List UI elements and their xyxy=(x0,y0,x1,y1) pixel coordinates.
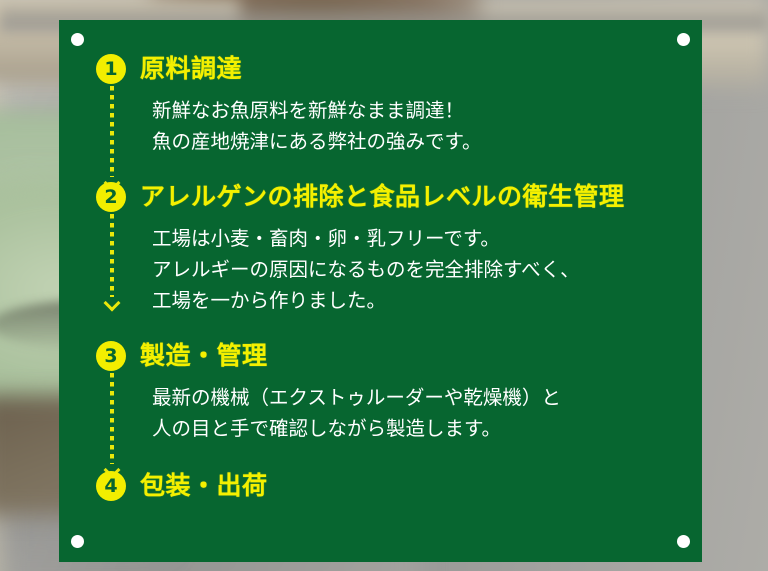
step-heading-3: 製造・管理 xyxy=(140,341,268,371)
step-body-line: 魚の産地焼津にある弊社の強みです。 xyxy=(152,126,688,157)
step-body-2: 工場は小麦・畜肉・卵・乳フリーです。 アレルギーの原因になるものを完全排除すべく… xyxy=(96,214,688,316)
step-number-badge-4: 4 xyxy=(96,471,126,501)
corner-dot-bottom-left xyxy=(71,535,84,548)
step-body-line: 最新の機械（エクストゥルーダーや乾燥機）と xyxy=(152,382,688,413)
step-spacer xyxy=(96,316,688,339)
step-body-line: 工場は小麦・畜肉・卵・乳フリーです。 xyxy=(152,223,688,254)
step-body-line: 新鮮なお魚原料を新鮮なまま調達！ xyxy=(152,95,688,126)
step-header-3: 3 製造・管理 xyxy=(96,339,688,373)
step-body-line: アレルギーの原因になるものを完全排除すべく、 xyxy=(152,254,688,285)
step-connector-arrow-1 xyxy=(105,86,119,190)
corner-dot-top-left xyxy=(71,33,84,46)
step-connector-arrow-3 xyxy=(105,373,119,477)
step-header-4: 4 包装・出荷 xyxy=(96,469,688,503)
screenshot-stage: 1 原料調達 新鮮なお魚原料を新鮮なまま調達！ 魚の産地焼津にある弊社の強みです… xyxy=(0,0,768,571)
step-header-1: 1 原料調達 xyxy=(96,52,688,86)
step-header-2: 2 アレルゲンの排除と食品レベルの衛生管理 xyxy=(96,180,688,214)
step-heading-4: 包装・出荷 xyxy=(140,471,268,501)
step-spacer xyxy=(96,157,688,180)
steps-list: 1 原料調達 新鮮なお魚原料を新鮮なまま調達！ 魚の産地焼津にある弊社の強みです… xyxy=(96,52,688,503)
step-body-line: 工場を一から作りました。 xyxy=(152,285,688,316)
dotted-line-icon xyxy=(110,373,114,464)
step-item-2: 2 アレルゲンの排除と食品レベルの衛生管理 工場は小麦・畜肉・卵・乳フリーです。… xyxy=(96,180,688,316)
step-item-4: 4 包装・出荷 xyxy=(96,469,688,503)
step-item-3: 3 製造・管理 最新の機械（エクストゥルーダーや乾燥機）と 人の目と手で確認しな… xyxy=(96,339,688,444)
step-heading-1: 原料調達 xyxy=(140,54,242,84)
step-spacer xyxy=(96,444,688,469)
step-number-badge-1: 1 xyxy=(96,54,126,84)
corner-dot-top-right xyxy=(677,33,690,46)
step-number-badge-3: 3 xyxy=(96,341,126,371)
process-steps-panel: 1 原料調達 新鮮なお魚原料を新鮮なまま調達！ 魚の産地焼津にある弊社の強みです… xyxy=(59,20,702,562)
step-body-line: 人の目と手で確認しながら製造します。 xyxy=(152,413,688,444)
step-item-1: 1 原料調達 新鮮なお魚原料を新鮮なまま調達！ 魚の産地焼津にある弊社の強みです… xyxy=(96,52,688,157)
step-connector-arrow-2 xyxy=(105,214,119,310)
step-heading-2: アレルゲンの排除と食品レベルの衛生管理 xyxy=(140,182,625,212)
step-body-3: 最新の機械（エクストゥルーダーや乾燥機）と 人の目と手で確認しながら製造します。 xyxy=(96,373,688,444)
corner-dot-bottom-right xyxy=(677,535,690,548)
step-body-1: 新鮮なお魚原料を新鮮なまま調達！ 魚の産地焼津にある弊社の強みです。 xyxy=(96,86,688,157)
step-number-badge-2: 2 xyxy=(96,182,126,212)
dotted-line-icon xyxy=(110,86,114,177)
dotted-line-icon xyxy=(110,214,114,297)
arrow-down-icon xyxy=(105,297,118,310)
